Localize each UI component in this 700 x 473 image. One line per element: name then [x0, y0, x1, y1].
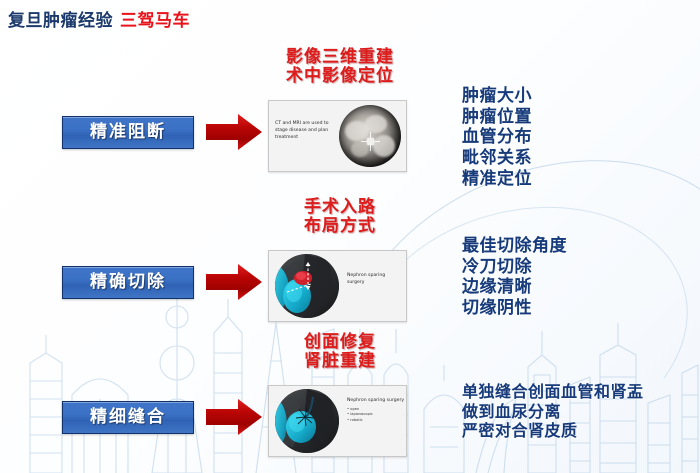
pillar-chip-2-label: 精确切除: [90, 274, 166, 291]
pillar-thumbnail-3[interactable]: Nephron sparing surgery • open • laparos…: [268, 385, 407, 457]
outcome-3-item-2: 做到血尿分离: [462, 402, 644, 422]
outcome-2-item-3: 边缘清晰: [462, 277, 567, 298]
outcome-1-item-4: 毗邻关系: [462, 148, 532, 169]
outcome-2-item-2: 冷刀切除: [462, 257, 567, 278]
outcome-list-2: 最佳切除角度 冷刀切除 边缘清晰 切缘阴性: [462, 236, 567, 319]
page-title: 复旦肿瘤经验三驾马车: [8, 6, 190, 31]
outcome-list-1: 肿瘤大小 肿瘤位置 血管分布 毗邻关系 精准定位: [462, 86, 532, 190]
pillar-heading-2-line-1: 手术入路: [255, 198, 425, 217]
pillar-thumbnail-3-text-block: Nephron sparing surgery • open • laparos…: [347, 398, 405, 424]
pillar-thumbnail-3-caption: Nephron sparing surgery: [347, 398, 405, 405]
pillar-chip-1-label: 精准阻断: [90, 124, 166, 141]
pillar-heading-3-line-2: 肾脏重建: [255, 352, 425, 371]
outcome-3-item-3: 严密对合肾皮质: [462, 421, 644, 441]
pillar-thumbnail-1-caption: CT and MRI are used to stage disease and…: [275, 121, 337, 142]
outcome-1-item-2: 肿瘤位置: [462, 107, 532, 128]
right-block-arrow-icon: [205, 262, 263, 302]
outcome-1-item-3: 血管分布: [462, 127, 532, 148]
pillar-heading-2: 手术入路 布局方式: [255, 198, 425, 236]
page-title-main: 复旦肿瘤经验: [8, 11, 113, 31]
pillar-thumbnail-1[interactable]: CT and MRI are used to stage disease and…: [268, 100, 407, 172]
outcome-2-item-1: 最佳切除角度: [462, 236, 567, 257]
ct-scan-image: [339, 105, 401, 167]
pillar-chip-1[interactable]: 精准阻断: [62, 116, 194, 149]
pillar-chip-3[interactable]: 精细缝合: [62, 401, 194, 434]
outcome-1-item-1: 肿瘤大小: [462, 86, 532, 107]
pillar-heading-2-line-2: 布局方式: [255, 217, 425, 236]
outcome-1-item-5: 精准定位: [462, 169, 532, 190]
kidney-3d-render-image: [275, 389, 339, 453]
pillar-chip-3-label: 精细缝合: [90, 409, 166, 426]
kidney-3d-render-image: [275, 254, 339, 318]
pillar-heading-3: 创面修复 肾脏重建: [255, 333, 425, 371]
outcome-2-item-4: 切缘阴性: [462, 298, 567, 319]
pillar-heading-1: 影像三维重建 术中影像定位: [255, 48, 425, 86]
thumb-3-bullet-3: • robotic: [347, 418, 405, 424]
pillar-heading-1-line-1: 影像三维重建: [255, 48, 425, 67]
pillar-heading-3-line-1: 创面修复: [255, 333, 425, 352]
page-title-accent: 三驾马车: [120, 11, 190, 31]
pillar-thumbnail-2[interactable]: Nephron sparing surgery: [268, 250, 407, 322]
pillar-thumbnail-2-caption: Nephron sparing surgery: [347, 273, 403, 287]
right-block-arrow-icon: [205, 112, 263, 152]
slide-canvas: 复旦肿瘤经验三驾马车 精准阻断 影像三维重建 术中影像定位: [0, 0, 700, 473]
pillar-thumbnail-3-bullets: • open • laparoscopic • robotic: [347, 407, 405, 424]
outcome-list-3: 单独缝合创面血管和肾盂 做到血尿分离 严密对合肾皮质: [462, 382, 644, 441]
outcome-3-item-1: 单独缝合创面血管和肾盂: [462, 382, 644, 402]
pillar-chip-2[interactable]: 精确切除: [62, 266, 194, 299]
pillar-heading-1-line-2: 术中影像定位: [255, 67, 425, 86]
right-block-arrow-icon: [205, 397, 263, 437]
